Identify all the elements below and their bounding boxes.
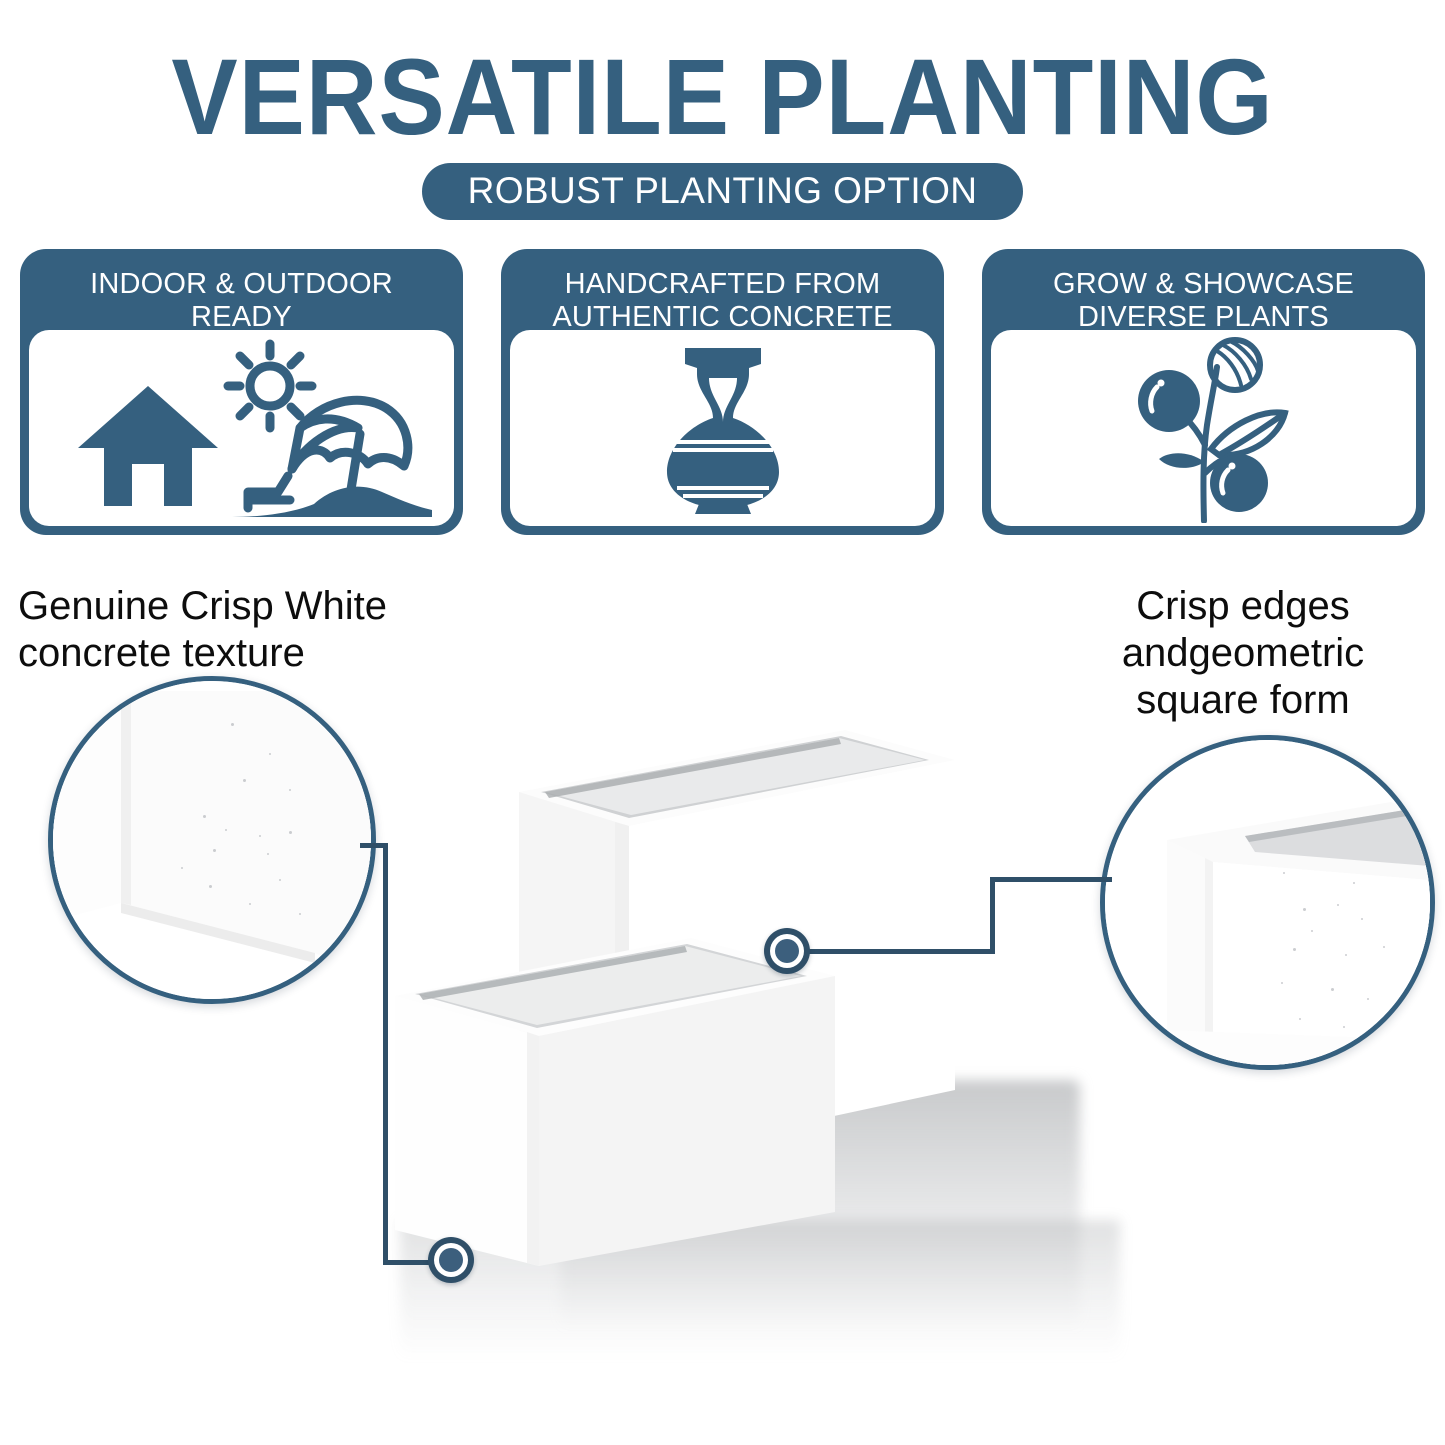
vase-icon xyxy=(633,338,813,518)
feature-card-title: INDOOR & OUTDOOR READY xyxy=(86,258,397,330)
concrete-speck xyxy=(203,815,206,818)
connector-right-segment-vertical xyxy=(990,877,995,951)
concrete-speck xyxy=(299,913,301,915)
berry-sprig-icon xyxy=(1099,333,1309,523)
concrete-speck xyxy=(1303,908,1306,911)
short-rectangular-planter xyxy=(395,930,835,1280)
solid-berry-right-icon xyxy=(1210,454,1268,512)
planter-edge-closeup xyxy=(1105,740,1430,1065)
badge-container: ROBUST PLANTING OPTION xyxy=(0,163,1445,220)
short-planter-body xyxy=(395,930,835,1280)
concrete-surface-closeup xyxy=(53,681,371,999)
concrete-speck xyxy=(1337,904,1339,906)
magnifier-content-concrete xyxy=(53,681,371,999)
magnifier-crisp-edge xyxy=(1100,735,1435,1070)
feature-card-icon-panel xyxy=(510,330,935,526)
concrete-speck xyxy=(1343,1026,1345,1028)
concrete-speck xyxy=(249,903,251,905)
concrete-speck xyxy=(231,723,234,726)
concrete-speck xyxy=(209,885,212,888)
concrete-speck xyxy=(243,779,246,782)
callout-dot-left xyxy=(428,1237,474,1283)
infographic-page: VERSATILE PLANTING ROBUST PLANTING OPTIO… xyxy=(0,0,1445,1445)
page-title: VERSATILE PLANTING xyxy=(58,42,1387,152)
connector-right-segment-lower xyxy=(800,949,995,954)
concrete-speck xyxy=(1283,872,1285,874)
feature-card-indoor-outdoor: INDOOR & OUTDOOR READY xyxy=(20,249,463,535)
concrete-speck xyxy=(181,867,183,869)
solid-berry-left-icon xyxy=(1138,370,1200,432)
product-stage xyxy=(0,560,1445,1445)
concrete-speck xyxy=(1281,982,1283,984)
concrete-speck xyxy=(267,853,269,855)
feature-card-icon-panel xyxy=(991,330,1416,526)
concrete-speck xyxy=(269,753,271,755)
feature-card-title: HANDCRAFTED FROM AUTHENTIC CONCRETE xyxy=(548,258,896,330)
concrete-speck xyxy=(1367,998,1369,1000)
concrete-speck xyxy=(259,835,261,837)
concrete-speck xyxy=(289,789,291,791)
feature-card-title: GROW & SHOWCASE DIVERSE PLANTS xyxy=(1049,258,1358,330)
feature-card-row: INDOOR & OUTDOOR READY xyxy=(20,249,1425,535)
concrete-speck xyxy=(1345,954,1347,956)
concrete-speck xyxy=(1331,988,1334,991)
concrete-speck xyxy=(1293,948,1296,951)
magnifier-concrete-texture xyxy=(48,676,376,1004)
callout-dot-right xyxy=(764,928,810,974)
feature-card-diverse-plants: GROW & SHOWCASE DIVERSE PLANTS xyxy=(982,249,1425,535)
feature-card-icon-panel xyxy=(29,330,454,526)
concrete-speck xyxy=(1311,930,1313,932)
concrete-speck xyxy=(225,829,227,831)
connector-right-segment-upper xyxy=(990,877,1112,882)
status-badge: ROBUST PLANTING OPTION xyxy=(422,163,1024,220)
concrete-speck xyxy=(1299,1018,1301,1020)
sun-icon xyxy=(228,344,312,428)
house-icon xyxy=(78,386,218,506)
concrete-speck xyxy=(1361,918,1363,920)
indoor-outdoor-icon-group xyxy=(42,336,442,521)
concrete-speck xyxy=(279,879,281,881)
connector-left-segment-vertical xyxy=(383,843,388,1265)
feature-card-authentic-concrete: HANDCRAFTED FROM AUTHENTIC CONCRETE xyxy=(501,249,944,535)
magnifier-content-edge xyxy=(1105,740,1430,1065)
concrete-speck xyxy=(1353,882,1355,884)
concrete-speck xyxy=(213,849,216,852)
concrete-speck xyxy=(1383,946,1385,948)
concrete-speck xyxy=(289,831,292,834)
